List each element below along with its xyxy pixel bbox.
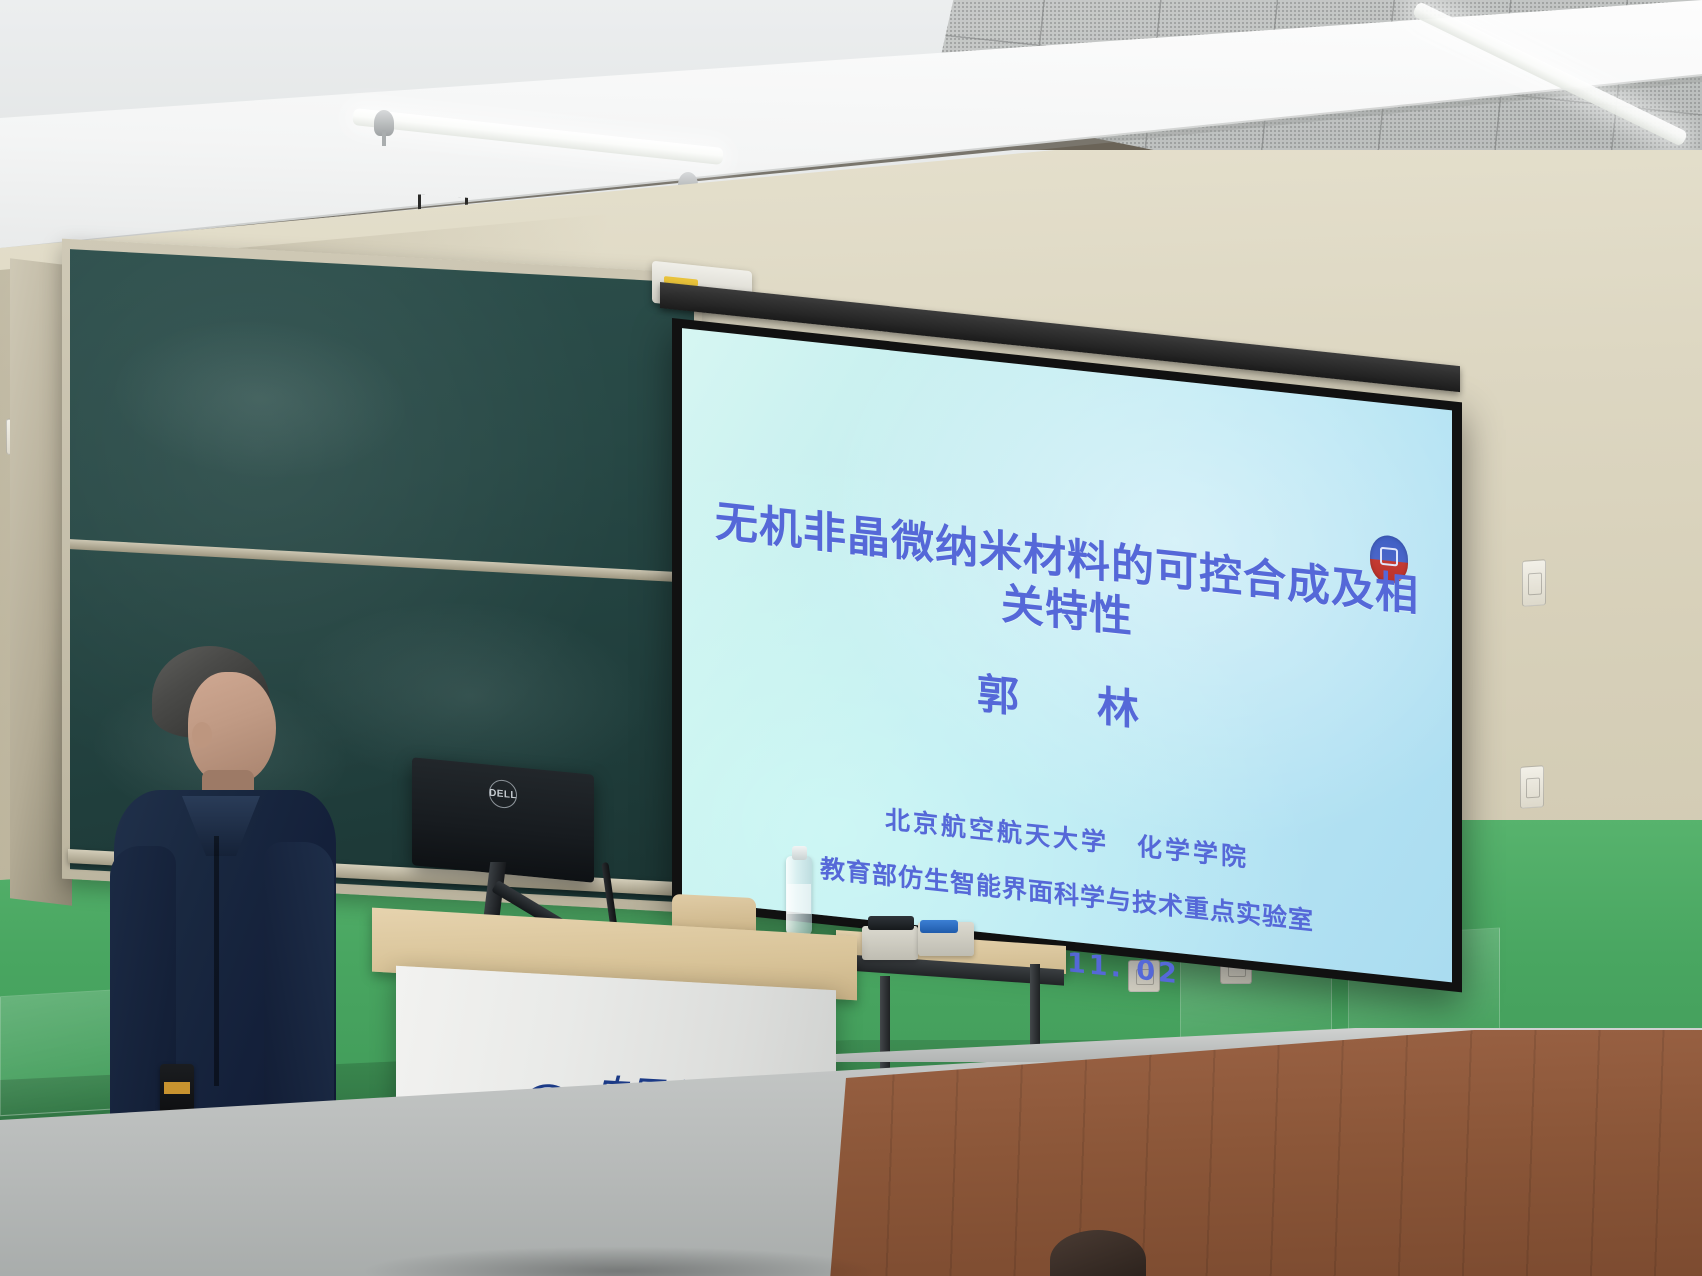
- presenter-badge-strip: [164, 1082, 190, 1094]
- presenter-jacket-placket: [214, 836, 219, 1086]
- dell-logo-icon: DELL: [489, 779, 517, 810]
- water-bottle-label: [787, 884, 811, 914]
- presenter-right-arm: [264, 842, 334, 1142]
- wall-outlet-right-upper[interactable]: [1522, 559, 1546, 607]
- water-bottle-cap: [792, 846, 807, 860]
- supply-tray-left[interactable]: [862, 926, 918, 960]
- wall-outlet-right-lower[interactable]: [1520, 765, 1544, 809]
- board-eraser[interactable]: [868, 916, 914, 930]
- lamp-stem-1: [382, 130, 386, 146]
- presenter-ear: [192, 722, 212, 748]
- blue-marker[interactable]: [920, 920, 958, 933]
- lecture-hall-scene: 无机非晶微纳米材料的可控合成及相关特性 郭 林 北京航空航天大学 化学学院 教育…: [0, 0, 1702, 1276]
